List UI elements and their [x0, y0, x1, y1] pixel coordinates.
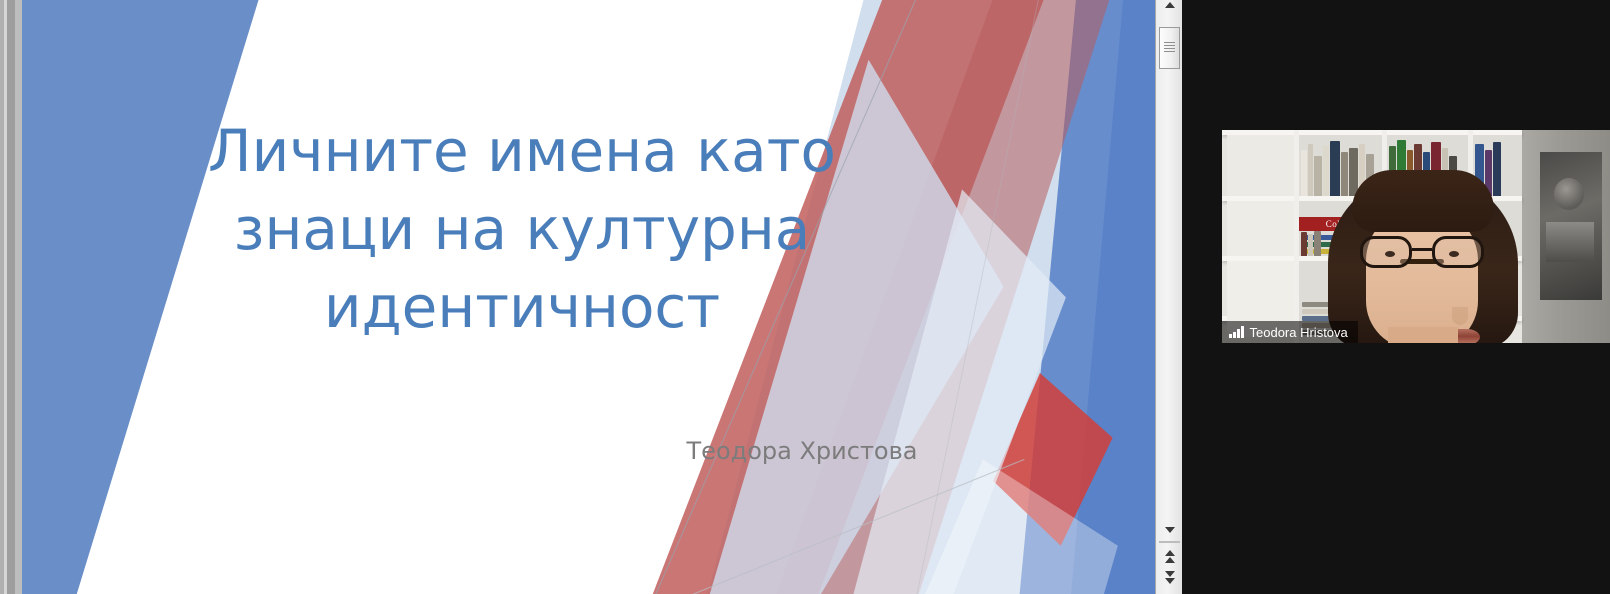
presentation-pane: Личните имена като знаци на културна иде… — [0, 0, 1182, 594]
participant-video-tile[interactable]: Collins — [1222, 130, 1610, 343]
participant-name-label: Teodora Hristova — [1250, 325, 1348, 340]
signal-bars-icon — [1229, 326, 1244, 338]
double-chevron-down-icon — [1165, 571, 1175, 584]
participant-name-badge: Teodora Hristova — [1222, 321, 1358, 343]
video-panel: Collins — [1182, 0, 1610, 594]
slide-title-line-1: Личните имена като — [172, 112, 872, 190]
next-slide-button[interactable] — [1158, 566, 1181, 588]
framed-picture — [1540, 152, 1602, 300]
webcam-scene: Collins — [1222, 130, 1610, 343]
double-chevron-up-icon — [1165, 550, 1175, 563]
scrollbar-divider — [1159, 541, 1180, 543]
fringe — [1352, 170, 1494, 232]
glasses-icon — [1358, 236, 1486, 270]
scrollbar-grip-icon — [1164, 42, 1175, 53]
scroll-up-arrow-icon[interactable] — [1158, 0, 1181, 16]
slide-title-line-3: идентичност — [172, 268, 872, 346]
scroll-down-arrow-icon[interactable] — [1158, 519, 1181, 541]
slide-title-line-2: знаци на културна — [172, 190, 872, 268]
participant-person — [1328, 174, 1518, 343]
window-edge-strip — [15, 0, 22, 594]
neck — [1388, 327, 1458, 343]
window-edge-strip — [7, 0, 15, 594]
slide-title[interactable]: Личните имена като знаци на културна иде… — [172, 112, 872, 346]
slide-canvas[interactable]: Личните имена като знаци на културна иде… — [22, 0, 1155, 594]
slide-scrollbar[interactable] — [1155, 0, 1182, 594]
screen-share-window: Личните имена като знаци на културна иде… — [0, 0, 1610, 594]
slide-subtitle-author[interactable]: Теодора Христова — [622, 437, 982, 465]
scrollbar-thumb[interactable] — [1159, 27, 1180, 69]
previous-slide-button[interactable] — [1158, 545, 1181, 567]
